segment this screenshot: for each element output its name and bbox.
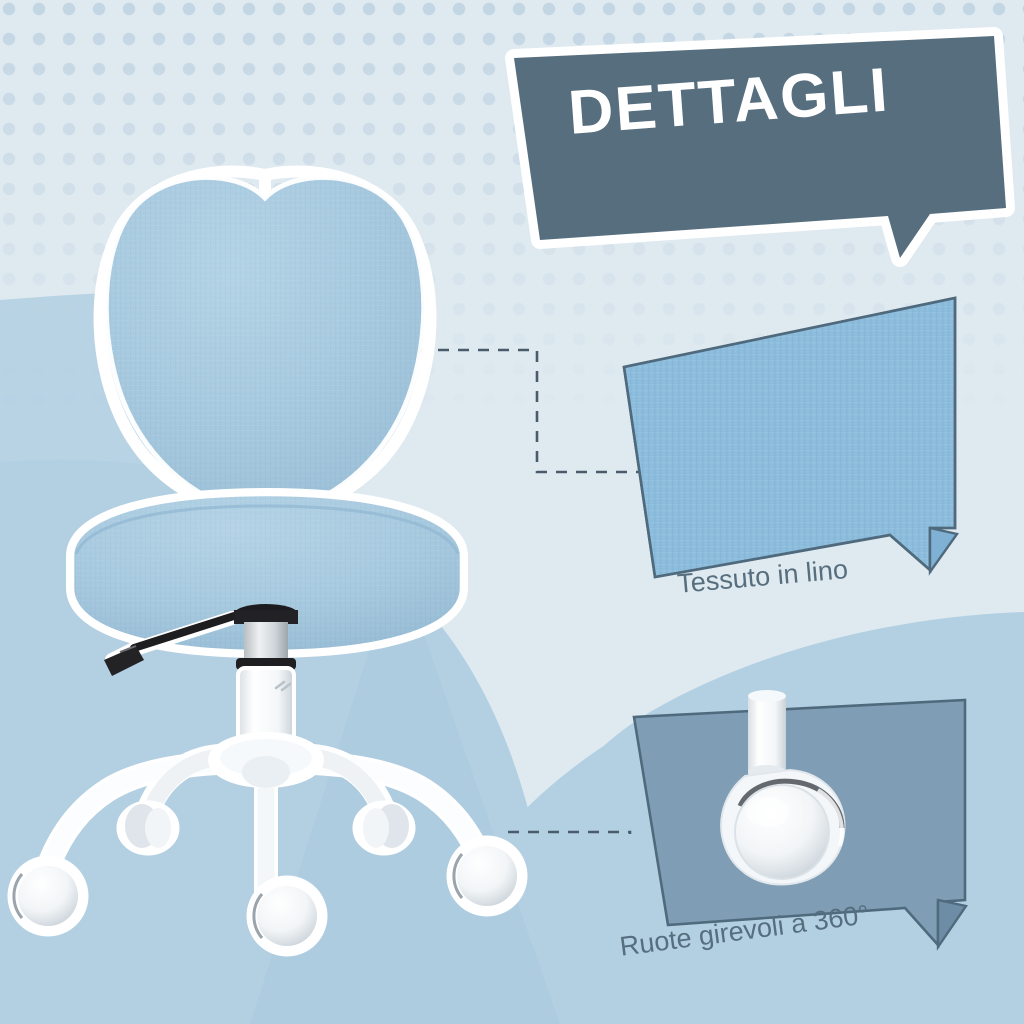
product-detail-infographic: DETTAGLI Tessuto in lino Ruote girevoli … [0,0,1024,1024]
banner-layer [0,0,1024,1024]
